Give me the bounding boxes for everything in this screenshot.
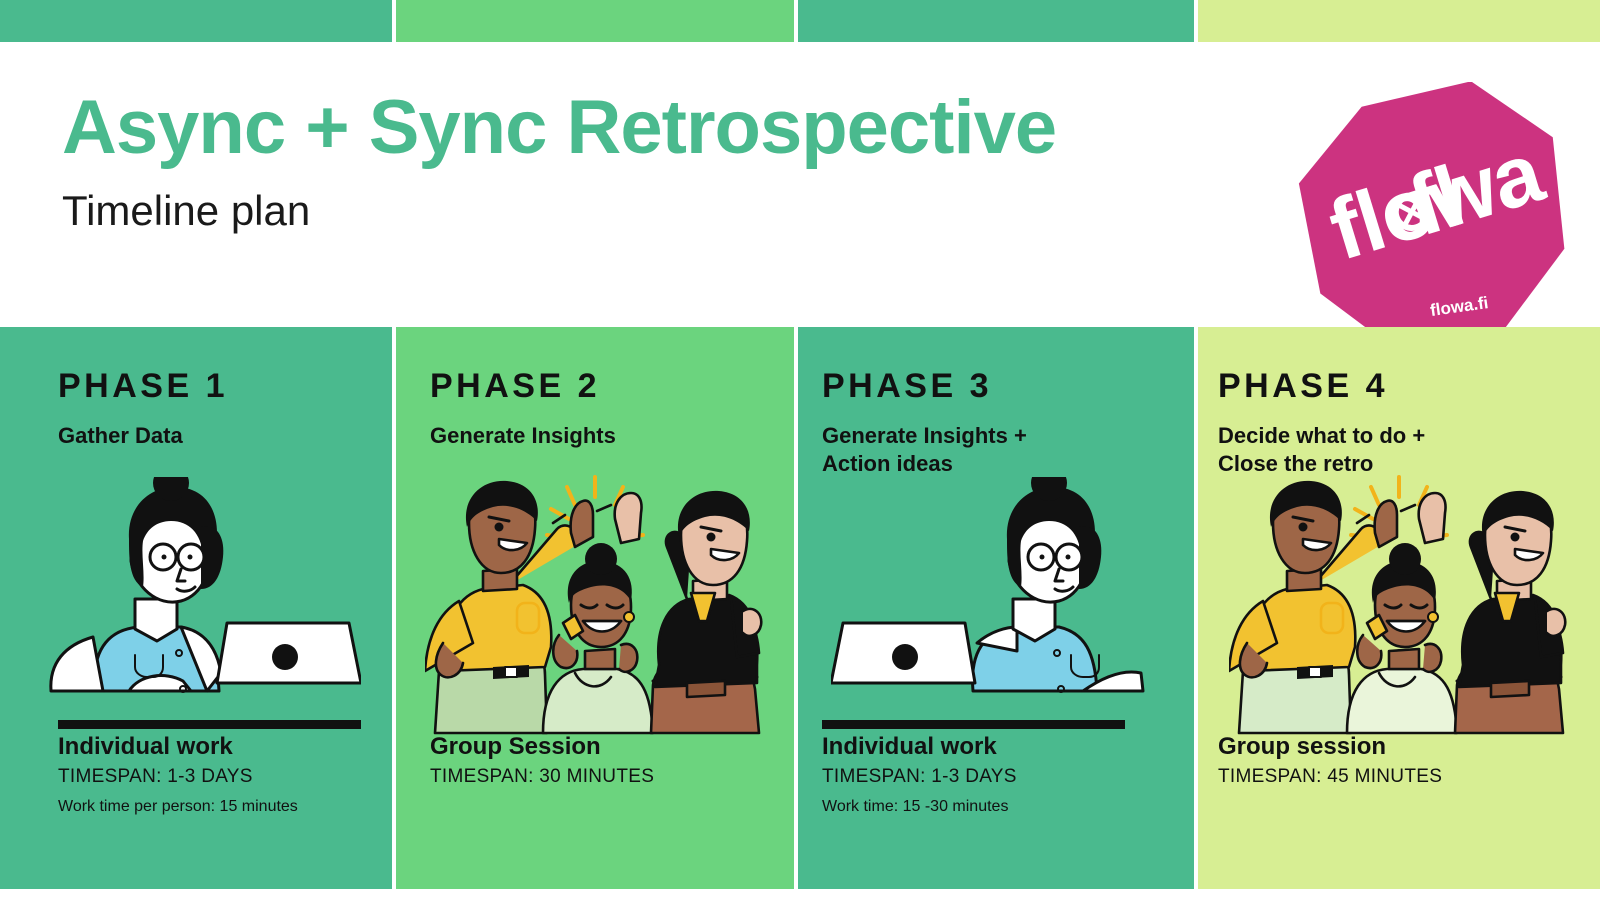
top-bar-segment-3 — [798, 0, 1194, 42]
phase-columns: PHASE 1 Gather Data — [0, 327, 1600, 889]
top-bar-segment-4 — [1198, 0, 1600, 42]
phase-footer-1: Individual work TIMESPAN: 1-3 DAYS Work … — [58, 731, 388, 818]
phase-label-2: PHASE 2 — [430, 367, 600, 406]
illustration-person-at-laptop-1 — [0, 477, 392, 727]
phase-footer-4: Group session TIMESPAN: 45 MINUTES — [1218, 731, 1548, 790]
footer-note-3: Work time: 15 -30 minutes — [822, 796, 1152, 818]
footer-timespan-2: TIMESPAN: 30 MINUTES — [430, 764, 760, 790]
phase-subtitle-4: Decide what to do + Close the retro — [1218, 422, 1425, 477]
desk-line-1 — [58, 720, 361, 729]
phase-subtitle-2: Generate Insights — [430, 422, 616, 450]
phase-column-2[interactable]: PHASE 2 Generate Insights — [396, 327, 794, 889]
footer-title-1: Individual work — [58, 731, 388, 762]
phase-footer-2: Group Session TIMESPAN: 30 MINUTES — [430, 731, 760, 790]
top-bar-segment-2 — [396, 0, 794, 42]
footer-title-4: Group session — [1218, 731, 1548, 762]
phase-label-1: PHASE 1 — [58, 367, 228, 406]
footer-timespan-1: TIMESPAN: 1-3 DAYS — [58, 764, 388, 790]
flowa-logo[interactable]: fl flowa flowa.fi — [1296, 82, 1582, 354]
header-band: Async + Sync Retrospective Timeline plan… — [0, 42, 1600, 327]
desk-line-3 — [822, 720, 1125, 729]
phase-subtitle-1: Gather Data — [58, 422, 183, 450]
illustration-person-at-laptop-3 — [798, 477, 1194, 727]
page-title: Async + Sync Retrospective — [62, 90, 1056, 166]
phase-column-1[interactable]: PHASE 1 Gather Data — [0, 327, 392, 889]
phase-column-3[interactable]: PHASE 3 Generate Insights + Action ideas — [798, 327, 1194, 889]
phase-label-4: PHASE 4 — [1218, 367, 1388, 406]
footer-timespan-4: TIMESPAN: 45 MINUTES — [1218, 764, 1548, 790]
illustration-group-high-five-2 — [396, 475, 794, 725]
phase-subtitle-3: Generate Insights + Action ideas — [822, 422, 1027, 477]
infographic-page: Async + Sync Retrospective Timeline plan… — [0, 0, 1600, 900]
top-bar-segment-1 — [0, 0, 392, 42]
bottom-white-strip — [0, 889, 1600, 900]
illustration-group-high-five-4 — [1198, 475, 1600, 725]
footer-note-1: Work time per person: 15 minutes — [58, 796, 388, 818]
phase-footer-3: Individual work TIMESPAN: 1-3 DAYS Work … — [822, 731, 1152, 818]
phase-label-3: PHASE 3 — [822, 367, 992, 406]
footer-title-2: Group Session — [430, 731, 760, 762]
page-subtitle: Timeline plan — [62, 190, 310, 232]
phase-column-4[interactable]: PHASE 4 Decide what to do + Close the re… — [1198, 327, 1600, 889]
top-color-bar — [0, 0, 1600, 42]
footer-title-3: Individual work — [822, 731, 1152, 762]
footer-timespan-3: TIMESPAN: 1-3 DAYS — [822, 764, 1152, 790]
